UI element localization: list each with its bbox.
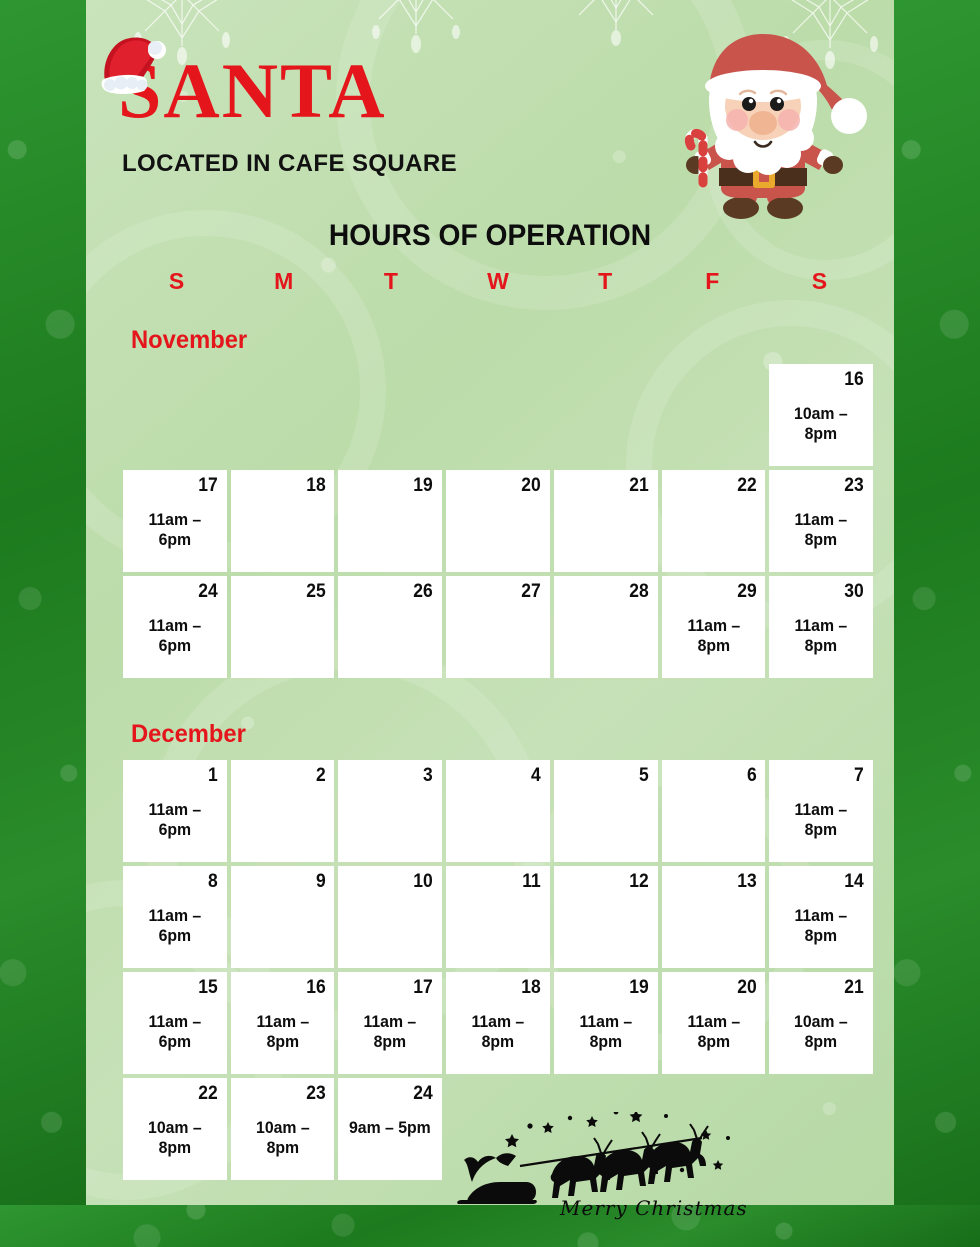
- day-number: 4: [462, 766, 541, 786]
- snowflake-border-icon: [0, 0, 86, 1247]
- day-number: 28: [570, 582, 649, 602]
- day-number: 22: [139, 1084, 218, 1104]
- day-number: 13: [677, 872, 756, 892]
- weekday-header-row: S M T W T F S: [123, 268, 873, 295]
- day-number: 17: [354, 978, 433, 998]
- calendar-day-cell: 1811am – 8pm: [446, 972, 550, 1074]
- calendar-day-cell: 6: [662, 760, 766, 862]
- day-hours: 10am – 8pm: [238, 1118, 327, 1158]
- day-hours: 11am – 8pm: [669, 1012, 758, 1052]
- day-hours: 11am – 6pm: [130, 800, 219, 840]
- day-hours: 9am – 5pm: [346, 1118, 435, 1138]
- weekday-saturday: S: [766, 268, 873, 295]
- day-number: 21: [785, 978, 864, 998]
- day-number: 1: [139, 766, 218, 786]
- month-label-december: December: [131, 720, 246, 749]
- day-hours: 11am – 8pm: [777, 800, 866, 840]
- calendar-day-cell: 28: [554, 576, 658, 678]
- calendar-day-cell: 1511am – 6pm: [123, 972, 227, 1074]
- calendar-day-cell: 21: [554, 470, 658, 572]
- day-hours: 10am – 8pm: [777, 404, 866, 444]
- calendar-day-cell: 4: [446, 760, 550, 862]
- calendar-day-cell: 1711am – 6pm: [123, 470, 227, 572]
- snowflake-border-icon: [894, 0, 980, 1247]
- day-hours: 10am – 8pm: [130, 1118, 219, 1158]
- calendar-day-cell: 1711am – 8pm: [338, 972, 442, 1074]
- day-number: 3: [354, 766, 433, 786]
- day-number: 18: [462, 978, 541, 998]
- day-number: 19: [570, 978, 649, 998]
- calendar-day-cell: 5: [554, 760, 658, 862]
- day-number: 23: [247, 1084, 326, 1104]
- day-number: 11: [462, 872, 541, 892]
- santa-claus-icon: [663, 28, 873, 233]
- calendar-day-cell: 11: [446, 866, 550, 968]
- calendar-day-cell: 811am – 6pm: [123, 866, 227, 968]
- calendar-day-cell: 20: [446, 470, 550, 572]
- weekday-tuesday: T: [337, 268, 444, 295]
- weekday-monday: M: [230, 268, 337, 295]
- day-number: 18: [247, 476, 326, 496]
- day-number: 16: [785, 370, 864, 390]
- day-number: 25: [247, 582, 326, 602]
- subtitle: LOCATED IN CAFE SQUARE: [122, 150, 457, 178]
- calendar-day-cell: 2311am – 8pm: [769, 470, 873, 572]
- day-hours: 11am – 6pm: [130, 1012, 219, 1052]
- calendar-day-cell: 22: [662, 470, 766, 572]
- day-hours: 11am – 8pm: [777, 616, 866, 656]
- day-number: 6: [677, 766, 756, 786]
- day-number: 23: [785, 476, 864, 496]
- merry-christmas-greeting: Merry Christmas: [560, 1196, 748, 1220]
- calendar-day-cell: 2911am – 8pm: [662, 576, 766, 678]
- weekday-wednesday: W: [444, 268, 551, 295]
- day-number: 14: [785, 872, 864, 892]
- calendar-day-cell: 3011am – 8pm: [769, 576, 873, 678]
- calendar-day-cell: 25: [231, 576, 335, 678]
- calendar-day-cell: 10: [338, 866, 442, 968]
- day-number: 17: [139, 476, 218, 496]
- month-label-november: November: [131, 326, 247, 355]
- day-hours: 11am – 8pm: [453, 1012, 542, 1052]
- day-number: 15: [139, 978, 218, 998]
- day-number: 24: [139, 582, 218, 602]
- calendar-day-cell: 26: [338, 576, 442, 678]
- day-number: 20: [462, 476, 541, 496]
- calendar-day-cell: 711am – 8pm: [769, 760, 873, 862]
- day-number: 5: [570, 766, 649, 786]
- day-number: 20: [677, 978, 756, 998]
- day-number: 16: [247, 978, 326, 998]
- calendar-day-cell: 3: [338, 760, 442, 862]
- calendar-day-cell: 2310am – 8pm: [231, 1078, 335, 1180]
- calendar-grid-november: 1610am – 8pm1711am – 6pm18192021222311am…: [123, 364, 873, 678]
- day-number: 22: [677, 476, 756, 496]
- day-number: 21: [570, 476, 649, 496]
- calendar-day-cell: 13: [662, 866, 766, 968]
- day-number: 29: [677, 582, 756, 602]
- calendar-day-cell: 2110am – 8pm: [769, 972, 873, 1074]
- day-hours: 11am – 6pm: [130, 906, 219, 946]
- day-hours: 11am – 8pm: [238, 1012, 327, 1052]
- day-number: 19: [354, 476, 433, 496]
- calendar-day-cell: 2: [231, 760, 335, 862]
- day-number: 10: [354, 872, 433, 892]
- calendar-day-cell: 2411am – 6pm: [123, 576, 227, 678]
- day-hours: 11am – 6pm: [130, 510, 219, 550]
- calendar-day-cell: 1610am – 8pm: [769, 364, 873, 466]
- calendar-day-cell: 249am – 5pm: [338, 1078, 442, 1180]
- day-number: 12: [570, 872, 649, 892]
- day-number: 27: [462, 582, 541, 602]
- weekday-sunday: S: [123, 268, 230, 295]
- day-number: 7: [785, 766, 864, 786]
- day-number: 2: [247, 766, 326, 786]
- santa-hours-poster: SANTA LOCATED IN CAFE SQUARE HOURS OF OP…: [0, 0, 980, 1247]
- calendar-day-cell: 27: [446, 576, 550, 678]
- calendar-day-cell: 2210am – 8pm: [123, 1078, 227, 1180]
- weekday-friday: F: [659, 268, 766, 295]
- calendar-day-cell: 9: [231, 866, 335, 968]
- calendar-day-cell: 1411am – 8pm: [769, 866, 873, 968]
- calendar-day-cell: 19: [338, 470, 442, 572]
- calendar-day-cell: 2011am – 8pm: [662, 972, 766, 1074]
- day-number: 8: [139, 872, 218, 892]
- day-hours: 11am – 8pm: [561, 1012, 650, 1052]
- calendar-day-cell: 1911am – 8pm: [554, 972, 658, 1074]
- day-number: 30: [785, 582, 864, 602]
- weekday-thursday: T: [552, 268, 659, 295]
- calendar-day-cell: 1611am – 8pm: [231, 972, 335, 1074]
- santa-hat-icon: [98, 33, 170, 105]
- day-hours: 11am – 8pm: [777, 906, 866, 946]
- day-number: 9: [247, 872, 326, 892]
- day-hours: 11am – 8pm: [346, 1012, 435, 1052]
- calendar-day-cell: 18: [231, 470, 335, 572]
- day-number: 26: [354, 582, 433, 602]
- calendar-day-cell: 12: [554, 866, 658, 968]
- day-hours: 11am – 6pm: [130, 616, 219, 656]
- calendar-day-cell: 111am – 6pm: [123, 760, 227, 862]
- day-number: 24: [354, 1084, 433, 1104]
- day-hours: 10am – 8pm: [777, 1012, 866, 1052]
- day-hours: 11am – 8pm: [669, 616, 758, 656]
- day-hours: 11am – 8pm: [777, 510, 866, 550]
